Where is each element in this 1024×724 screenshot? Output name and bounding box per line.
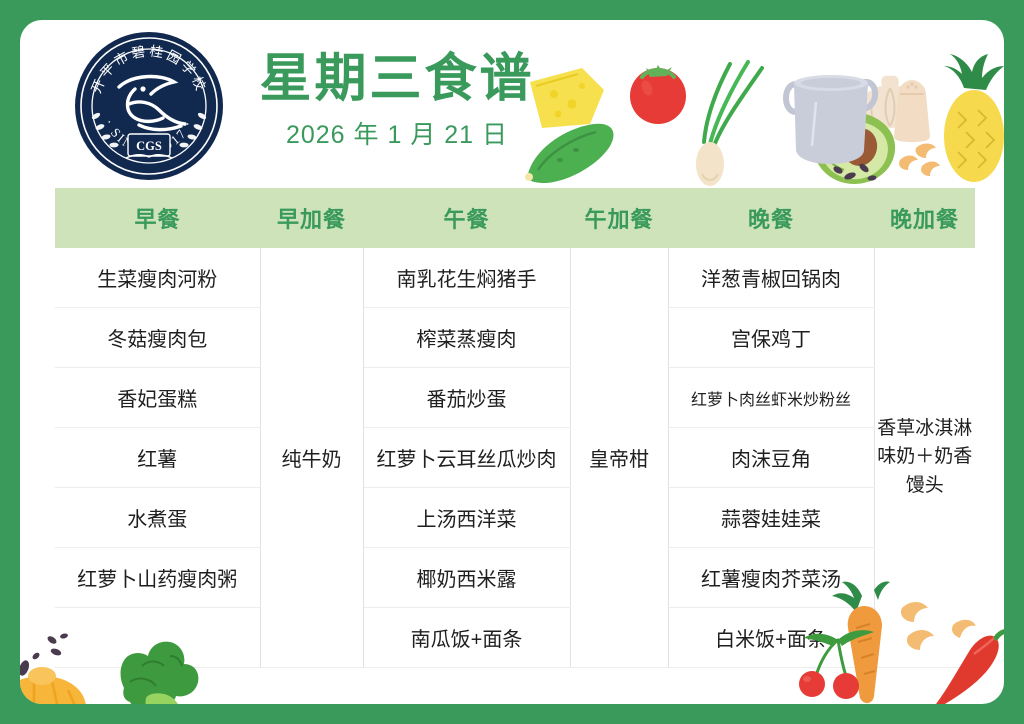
table-row: 南瓜饭+面条 白米饭+面条 <box>55 608 975 668</box>
table-header-row: 早餐 早加餐 午餐 午加餐 晚餐 晚加餐 <box>55 188 975 248</box>
menu-item-breakfast: 香妃蛋糕 <box>55 368 260 428</box>
tomato-icon <box>630 65 686 124</box>
menu-item-lunch: 红萝卜云耳丝瓜炒肉 <box>363 428 570 488</box>
column-header-pm-snack: 午加餐 <box>570 188 668 248</box>
page-title: 星期三食谱 <box>252 50 542 108</box>
menu-item-breakfast: 冬菇瘦肉包 <box>55 308 260 368</box>
table-row: 生菜瘦肉河粉 纯牛奶 南乳花生焖猪手 皇帝柑 洋葱青椒回锅肉 香草冰淇淋味奶＋奶… <box>55 248 975 308</box>
juicer-icon <box>20 667 86 704</box>
cooking-pot-icon <box>786 75 875 164</box>
menu-item-dinner: 红薯瘦肉芥菜汤 <box>668 548 874 608</box>
table-row: 红薯 红萝卜云耳丝瓜炒肉 肉沫豆角 <box>55 428 975 488</box>
poster-date: 2026 年 1 月 21 日 <box>252 115 542 151</box>
menu-item-breakfast: 红薯 <box>55 428 260 488</box>
column-header-breakfast: 早餐 <box>55 188 260 248</box>
menu-table: 早餐 早加餐 午餐 午加餐 晚餐 晚加餐 生菜瘦肉河粉 纯牛奶 南乳花生焖猪手 … <box>55 188 975 668</box>
menu-item-night-snack: 香草冰淇淋味奶＋奶香馒头 <box>874 248 975 668</box>
cheese-icon <box>530 68 604 128</box>
table-header: 早餐 早加餐 午餐 午加餐 晚餐 晚加餐 <box>55 188 975 248</box>
salt-shaker-icon <box>894 80 930 142</box>
menu-item-dinner: 白米饭+面条 <box>668 608 874 668</box>
table-row: 冬菇瘦肉包 榨菜蒸瘦肉 宫保鸡丁 <box>55 308 975 368</box>
menu-item-lunch: 椰奶西米露 <box>363 548 570 608</box>
menu-item-breakfast: 红萝卜山药瘦肉粥 <box>55 548 260 608</box>
menu-item-dinner: 红萝卜肉丝虾米炒粉丝 <box>668 368 874 428</box>
column-header-night-snack: 晚加餐 <box>874 188 975 248</box>
seeds-icon <box>832 162 877 181</box>
column-header-lunch: 午餐 <box>363 188 570 248</box>
menu-item-pm-snack: 皇帝柑 <box>570 248 668 668</box>
menu-item-lunch: 番茄炒蛋 <box>363 368 570 428</box>
menu-item-breakfast <box>55 608 260 668</box>
menu-item-dinner: 洋葱青椒回锅肉 <box>668 248 874 308</box>
column-header-dinner: 晚餐 <box>668 188 874 248</box>
menu-item-lunch: 上汤西洋菜 <box>363 488 570 548</box>
menu-item-dinner: 宫保鸡丁 <box>668 308 874 368</box>
table-row: 香妃蛋糕 番茄炒蛋 红萝卜肉丝虾米炒粉丝 <box>55 368 975 428</box>
cashew-icon <box>899 144 940 177</box>
poster-header: 开平市碧桂园学校 · SINCE 2017 · <box>20 20 1004 188</box>
menu-item-am-snack: 纯牛奶 <box>260 248 363 668</box>
seeds-icon <box>20 659 31 677</box>
menu-item-breakfast: 生菜瘦肉河粉 <box>55 248 260 308</box>
poster-card: 开平市碧桂园学校 · SINCE 2017 · <box>20 20 1004 704</box>
menu-item-dinner: 蒜蓉娃娃菜 <box>668 488 874 548</box>
menu-item-dinner: 肉沫豆角 <box>668 428 874 488</box>
green-onion-icon <box>696 62 762 186</box>
school-logo: 开平市碧桂园学校 · SINCE 2017 · <box>73 30 225 182</box>
svg-text:CGS: CGS <box>136 139 162 153</box>
zucchini-icon <box>525 124 613 183</box>
table-body: 生菜瘦肉河粉 纯牛奶 南乳花生焖猪手 皇帝柑 洋葱青椒回锅肉 香草冰淇淋味奶＋奶… <box>55 248 975 668</box>
column-header-am-snack: 早加餐 <box>260 188 363 248</box>
header-food-illustrations-right <box>780 54 1004 188</box>
title-block: 星期三食谱 2026 年 1 月 21 日 <box>252 50 542 151</box>
table-row: 水煮蛋 上汤西洋菜 蒜蓉娃娃菜 <box>55 488 975 548</box>
menu-item-lunch: 南乳花生焖猪手 <box>363 248 570 308</box>
menu-item-lunch: 榨菜蒸瘦肉 <box>363 308 570 368</box>
menu-item-lunch: 南瓜饭+面条 <box>363 608 570 668</box>
table-row: 红萝卜山药瘦肉粥 椰奶西米露 红薯瘦肉芥菜汤 <box>55 548 975 608</box>
menu-poster: 开平市碧桂园学校 · SINCE 2017 · <box>0 0 1024 724</box>
pineapple-icon <box>944 54 1004 182</box>
menu-item-breakfast: 水煮蛋 <box>55 488 260 548</box>
